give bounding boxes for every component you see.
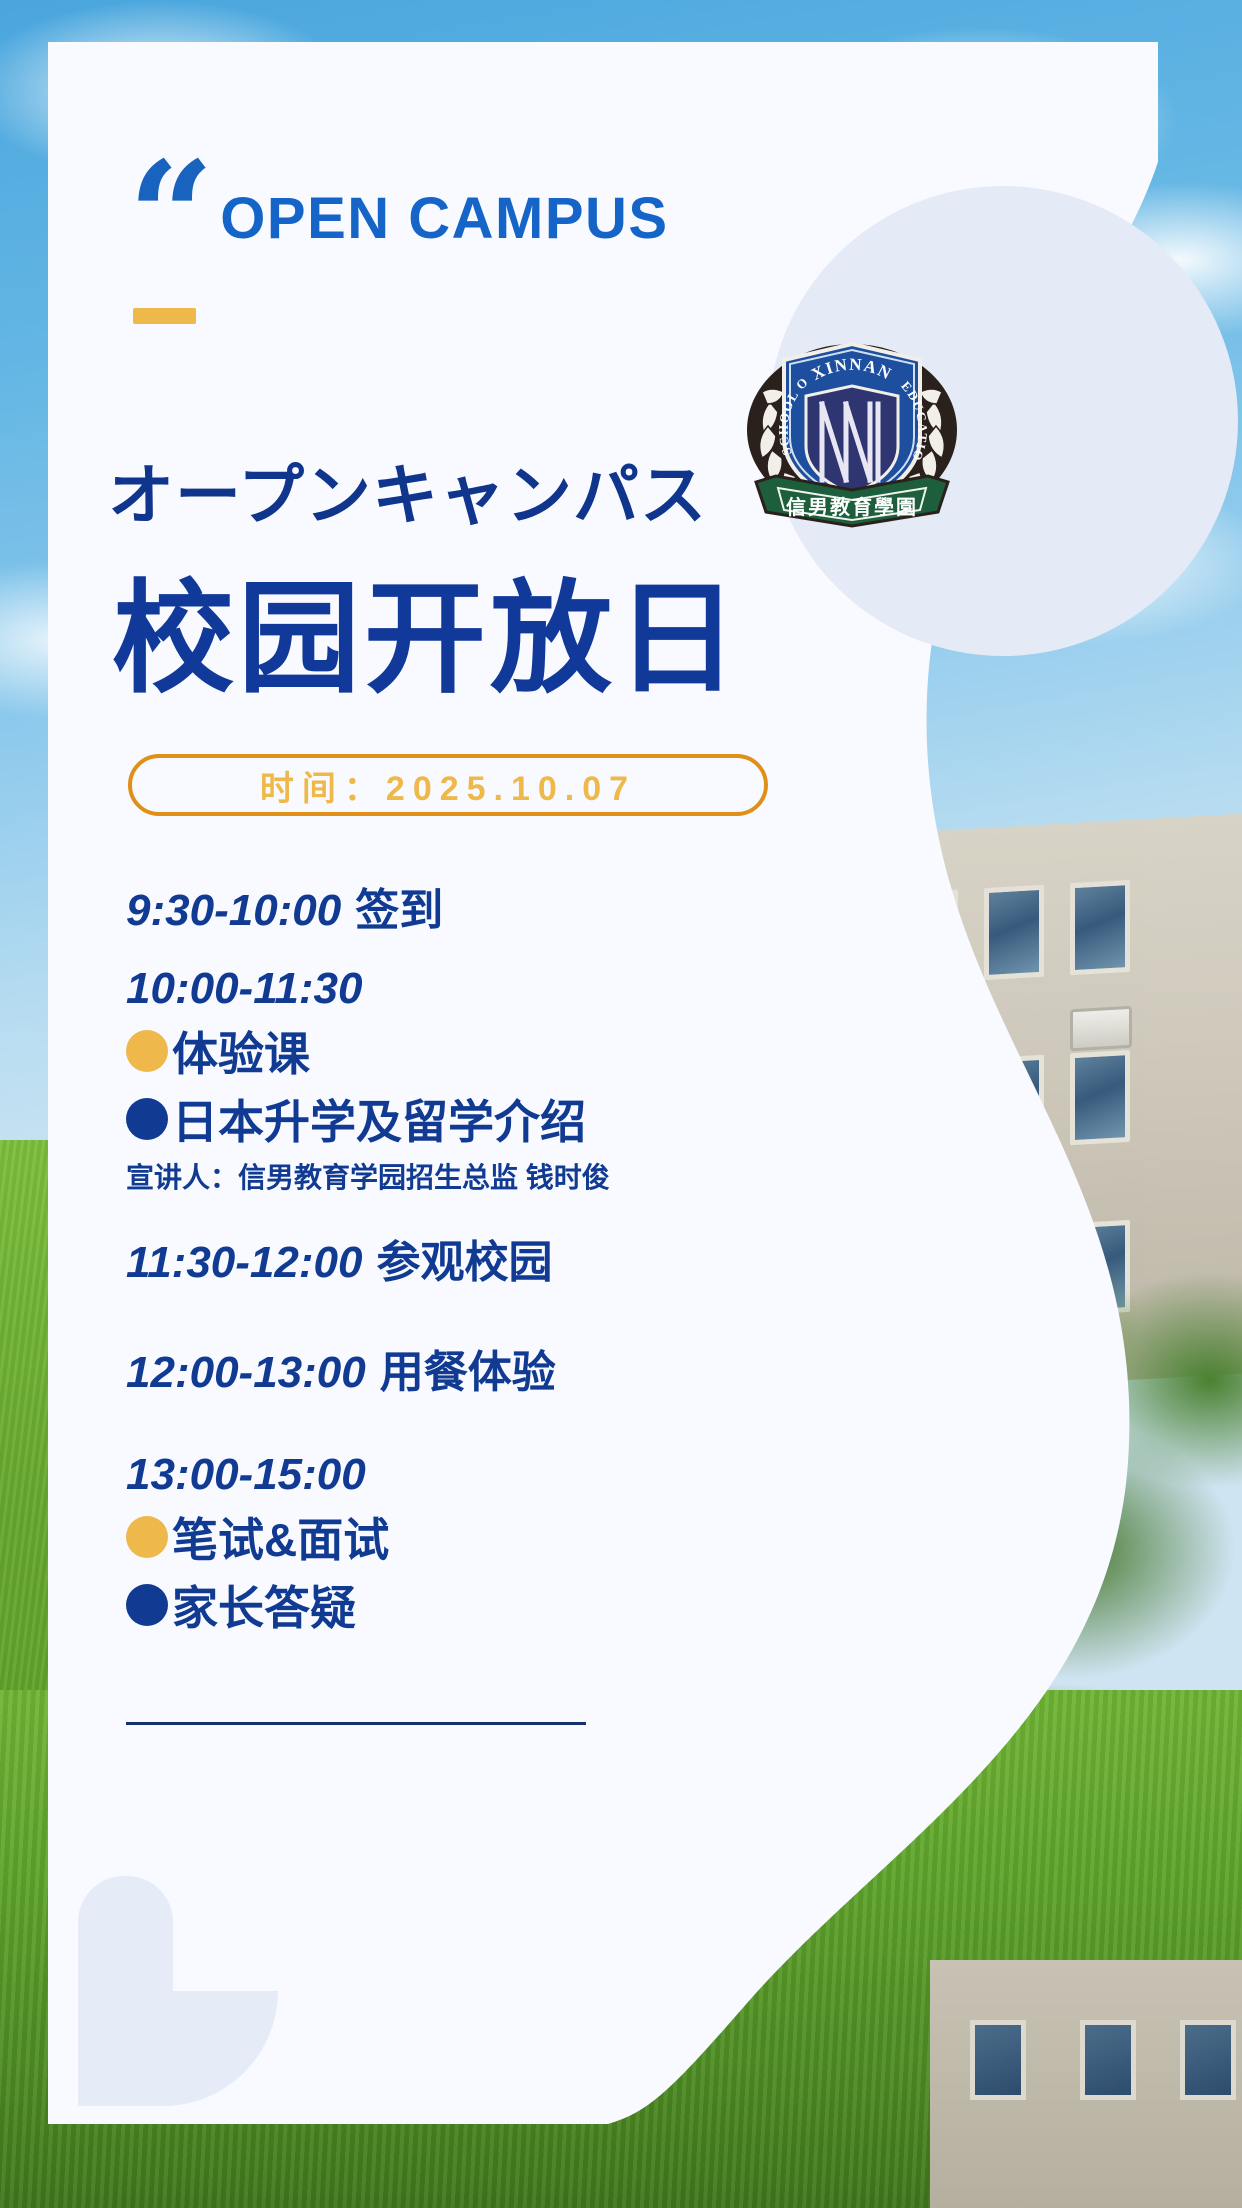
- bullet-text: 体验课: [172, 1018, 310, 1084]
- xinnan-education-crest-icon: XINNAN SCHOOL OF EDUCATION 信男教育學園: [742, 330, 962, 540]
- bullet-text: 家长答疑: [172, 1572, 356, 1638]
- date-text: 时间：2025.10.07: [260, 761, 636, 810]
- section-divider: [126, 1722, 586, 1725]
- schedule-item: 13:00-15:00 笔试&面试 家长答疑: [126, 1450, 926, 1638]
- schedule-item: 11:30-12:00 参观校园: [126, 1226, 926, 1290]
- english-title: OPEN CAMPUS: [220, 185, 668, 252]
- schedule-time: 11:30-12:00: [126, 1238, 362, 1288]
- schedule-bullet: 笔试&面试: [126, 1504, 926, 1570]
- accent-dash: [133, 308, 196, 324]
- bullet-dot-navy-icon: [126, 1098, 168, 1140]
- schedule-time: 12:00-13:00: [126, 1348, 366, 1398]
- bullet-dot-yellow-icon: [126, 1516, 168, 1558]
- speaker-note: 宣讲人：信男教育学园招生总监 钱时俊: [126, 1156, 926, 1196]
- quote-open-icon: “: [128, 171, 208, 264]
- schedule-item: 9:30-10:00 签到: [126, 874, 926, 938]
- schedule-time: 13:00-15:00: [126, 1450, 366, 1500]
- bullet-text: 日本升学及留学介绍: [172, 1086, 586, 1152]
- schedule-bullet: 体验课: [126, 1018, 926, 1084]
- japanese-title: オープンキャンパス: [108, 442, 707, 538]
- header-block: “ OPEN CAMPUS: [128, 165, 669, 258]
- schedule-time: 10:00-11:30: [126, 964, 362, 1014]
- schedule-list: 9:30-10:00 签到 10:00-11:30 体验课 日本升学及留学介绍 …: [126, 874, 926, 1664]
- schedule-bullet: 家长答疑: [126, 1572, 926, 1638]
- schedule-label: 签到: [355, 874, 443, 938]
- schedule-label: 参观校园: [376, 1226, 552, 1290]
- bullet-dot-yellow-icon: [126, 1030, 168, 1072]
- bullet-dot-navy-icon: [126, 1584, 168, 1626]
- schedule-item: 10:00-11:30 体验课 日本升学及留学介绍 宣讲人：信男教育学园招生总监…: [126, 964, 926, 1196]
- schedule-time: 9:30-10:00: [126, 886, 341, 936]
- bullet-text: 笔试&面试: [172, 1504, 389, 1570]
- date-badge: 时间：2025.10.07: [128, 754, 768, 816]
- schedule-bullet: 日本升学及留学介绍: [126, 1086, 926, 1152]
- chinese-title: 校园开放日: [112, 540, 742, 717]
- schedule-item: 12:00-13:00 用餐体验: [126, 1336, 926, 1400]
- svg-text:信男教育學園: 信男教育學園: [786, 495, 918, 519]
- schedule-label: 用餐体验: [380, 1336, 556, 1400]
